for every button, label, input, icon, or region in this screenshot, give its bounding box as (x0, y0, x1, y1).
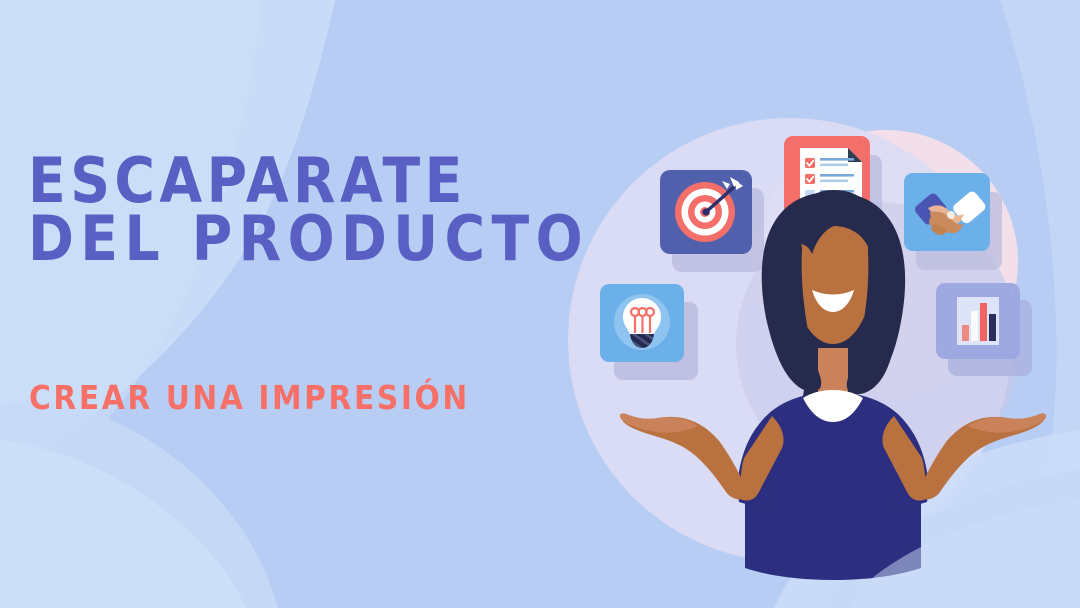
lightbulb-icon (614, 294, 670, 350)
poster-canvas (0, 0, 1080, 608)
handshake-card (904, 173, 1002, 270)
bar-chart-icon (957, 297, 999, 345)
barchart-card (936, 283, 1032, 376)
target-card (660, 170, 764, 272)
lightbulb-card (600, 284, 698, 380)
